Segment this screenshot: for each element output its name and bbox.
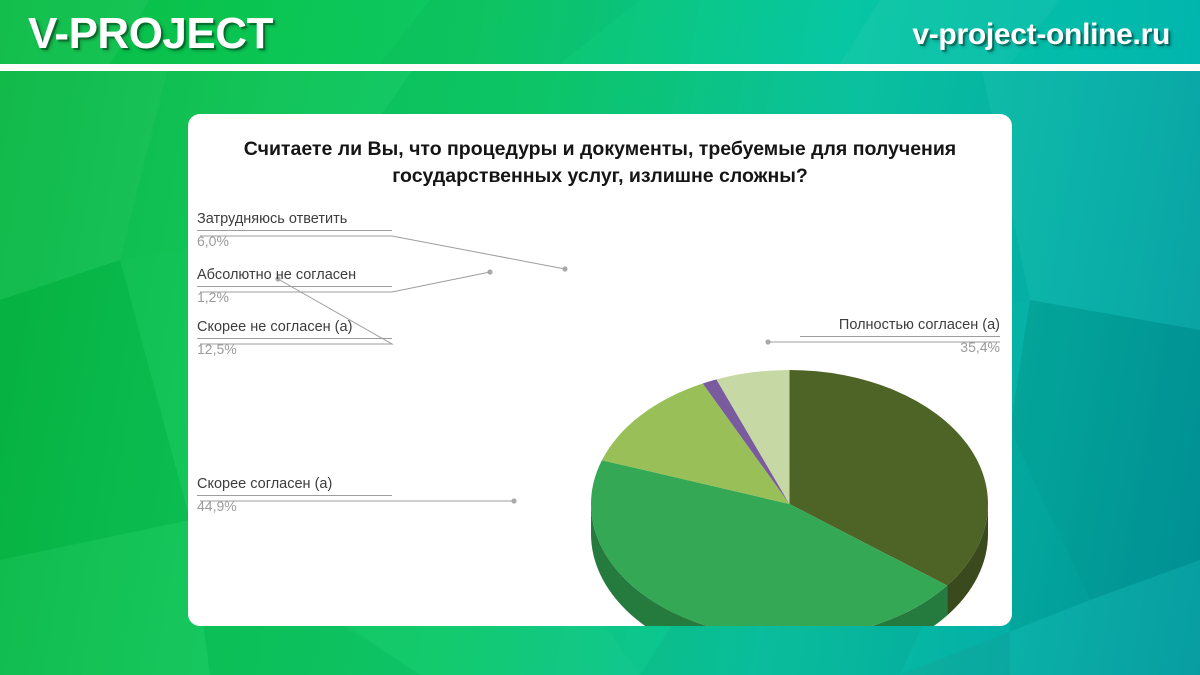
callout-value: 6,0%: [197, 231, 392, 251]
dot-absolyutno: [487, 269, 492, 274]
header-bar: V-PROJECT v-project-online.ru: [0, 0, 1200, 64]
dot-zatrudnyayus: [562, 266, 567, 271]
callout-value: 12,5%: [197, 339, 392, 359]
callout-label: Абсолютно не согласен: [197, 266, 392, 286]
chart-card: Считаете ли Вы, что процедуры и документ…: [188, 114, 1012, 626]
callout-label: Затрудняюсь ответить: [197, 210, 392, 230]
brand-logo-text: V-PROJECT: [28, 9, 273, 59]
callout-value: 1,2%: [197, 287, 392, 307]
callout-skoree-ne: Скорее не согласен (а) 12,5%: [197, 318, 392, 359]
callout-skoree-da: Скорее согласен (а) 44,9%: [197, 475, 392, 516]
callout-label: Скорее не согласен (а): [197, 318, 392, 338]
dot-skoree-da: [511, 498, 516, 503]
callout-value: 35,4%: [800, 337, 1000, 357]
header-divider-line: [0, 64, 1200, 71]
callout-label: Скорее согласен (а): [197, 475, 392, 495]
callout-value: 44,9%: [197, 496, 392, 516]
callout-polnostyu: Полностью согласен (а) 35,4%: [800, 316, 1000, 357]
callout-label: Полностью согласен (а): [800, 316, 1000, 336]
callout-zatrudnyayus: Затрудняюсь ответить 6,0%: [197, 210, 392, 251]
pie-chart-svg: [188, 114, 1012, 626]
site-url-text: v-project-online.ru: [912, 18, 1170, 52]
dot-polnostyu: [765, 339, 770, 344]
pie-chart: Затрудняюсь ответить 6,0% Абсолютно не с…: [188, 114, 1012, 626]
callout-absolyutno: Абсолютно не согласен 1,2%: [197, 266, 392, 307]
slide-canvas: V-PROJECT v-project-online.ru Считаете л…: [0, 0, 1200, 675]
